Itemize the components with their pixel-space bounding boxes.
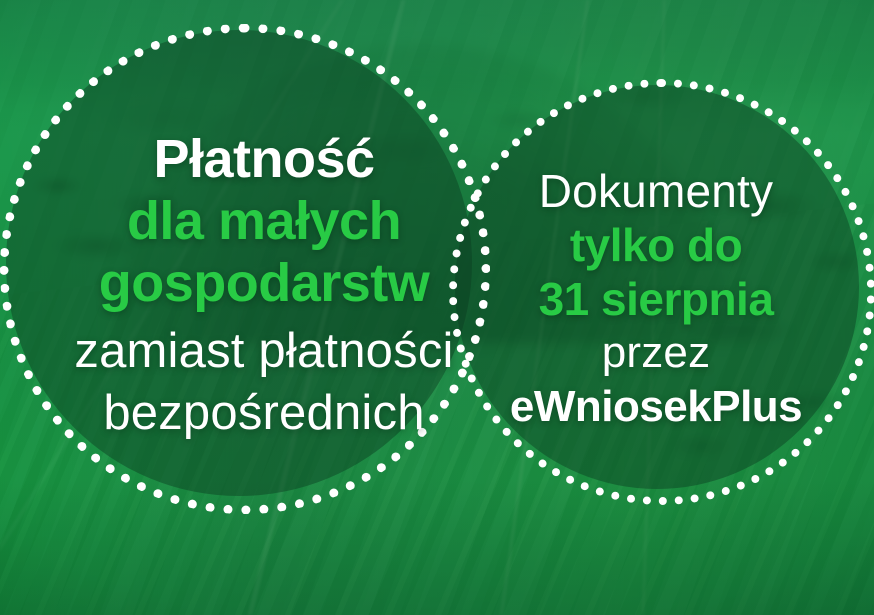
right-line-4: przez	[456, 326, 856, 380]
left-line-2: dla małych	[18, 190, 510, 252]
left-message-block: Płatność dla małych gospodarstw zamiast …	[18, 128, 510, 444]
right-line-2: tylko do	[456, 218, 856, 272]
right-message-block: Dokumenty tylko do 31 sierpnia przez eWn…	[456, 164, 856, 434]
left-line-4: zamiast płatności	[18, 320, 510, 382]
left-line-1: Płatność	[18, 128, 510, 190]
right-line-3: 31 sierpnia	[456, 272, 856, 326]
left-line-5: bezpośrednich	[18, 382, 510, 444]
promo-banner: Płatność dla małych gospodarstw zamiast …	[0, 0, 874, 615]
left-line-3: gospodarstw	[18, 252, 510, 314]
right-line-5: eWniosekPlus	[456, 380, 856, 434]
right-line-1: Dokumenty	[456, 164, 856, 218]
